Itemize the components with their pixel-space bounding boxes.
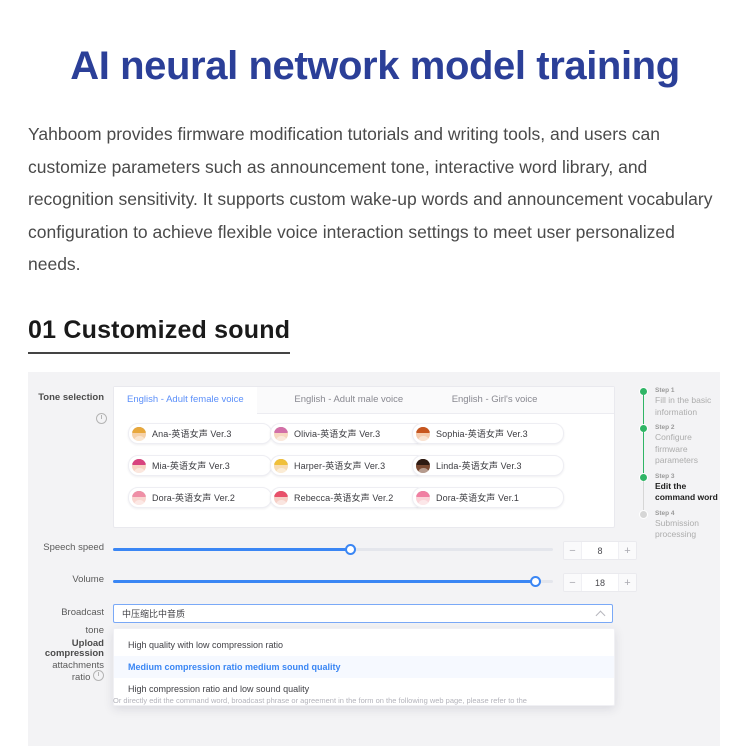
label-compression-line1: compression [32, 648, 104, 660]
chevron-up-icon [596, 610, 606, 620]
voice-chip[interactable]: Dora-英语女声 Ver.2 [128, 487, 272, 508]
step-number: Step 1 [655, 386, 720, 395]
voice-chip-label: Sophia-英语女声 Ver.3 [436, 427, 528, 440]
speech-speed-value[interactable]: 8 [581, 542, 619, 559]
step-item-2[interactable]: Step 2Configure firmware parameters [640, 423, 720, 467]
compression-help-icon[interactable] [93, 670, 104, 681]
voice-chip[interactable]: Harper-英语女声 Ver.3 [270, 455, 426, 476]
label-speech-speed: Speech speed [32, 542, 104, 554]
speech-speed-track[interactable] [113, 548, 553, 551]
step-number: Step 3 [655, 472, 720, 481]
voice-chip[interactable]: Linda-英语女声 Ver.3 [412, 455, 564, 476]
step-dot-icon [640, 425, 647, 432]
voice-chip-label: Mia-英语女声 Ver.3 [152, 459, 230, 472]
page-title: AI neural network model training [0, 42, 750, 90]
avatar [132, 427, 146, 441]
volume-increment[interactable]: + [619, 574, 636, 591]
avatar [416, 459, 430, 473]
speech-speed-decrement[interactable]: − [564, 542, 581, 559]
step-dot-icon [640, 474, 647, 481]
footnote-text: Or directly edit the command word, broad… [113, 695, 633, 706]
voice-chip-label: Linda-英语女声 Ver.3 [436, 459, 522, 472]
step-number: Step 2 [655, 423, 720, 432]
voice-chip-label: Harper-英语女声 Ver.3 [294, 459, 385, 472]
step-number: Step 4 [655, 509, 720, 518]
volume-value[interactable]: 18 [581, 574, 619, 591]
step-text: Submission processing [655, 518, 720, 541]
intro-paragraph: Yahboom provides firmware modification t… [28, 118, 718, 281]
customized-sound-panel: Tone selection Speech speed Volume Broad… [28, 372, 720, 746]
avatar [274, 459, 288, 473]
voice-chip-label: Rebecca-英语女声 Ver.2 [294, 491, 393, 504]
voice-chip[interactable]: Dora-英语女声 Ver.1 [412, 487, 564, 508]
slider-handle[interactable] [345, 544, 356, 555]
voice-tab-2[interactable]: English - Girl's voice [439, 387, 551, 413]
voice-chip-label: Dora-英语女声 Ver.1 [436, 491, 519, 504]
voice-chip[interactable]: Mia-英语女声 Ver.3 [128, 455, 272, 476]
voice-chip[interactable]: Ana-英语女声 Ver.3 [128, 423, 272, 444]
avatar [416, 491, 430, 505]
label-tone-selection: Tone selection [32, 392, 104, 404]
slider-fill [113, 548, 351, 551]
step-dot-icon [640, 511, 647, 518]
label-compression-line2: ratio [32, 670, 104, 684]
voice-tabs: English - Adult female voiceEnglish - Ad… [114, 387, 614, 414]
step-item-1[interactable]: Step 1Fill in the basic information [640, 386, 720, 418]
voice-chip-label: Olivia-英语女声 Ver.3 [294, 427, 380, 440]
broadcast-tone-selected-value: 中压缩比中音质 [122, 607, 597, 620]
avatar [274, 427, 288, 441]
label-broadcast-tone-line2: tone [32, 625, 104, 637]
label-volume: Volume [32, 574, 104, 586]
step-text: Fill in the basic information [655, 395, 720, 418]
step-dot-icon [640, 388, 647, 395]
step-connector [643, 432, 645, 476]
volume-track[interactable] [113, 580, 553, 583]
dropdown-option-1[interactable]: Medium compression ratio medium sound qu… [114, 656, 614, 678]
step-text: Edit the command word [655, 481, 720, 504]
step-item-3[interactable]: Step 3Edit the command word [640, 472, 720, 504]
voice-tab-1[interactable]: English - Adult male voice [281, 387, 416, 413]
volume-stepper[interactable]: − 18 + [563, 573, 637, 592]
voice-chip-label: Ana-英语女声 Ver.3 [152, 427, 231, 440]
label-broadcast-tone-line1: Broadcast [32, 607, 104, 619]
section-heading: 01 Customized sound [28, 313, 290, 354]
voice-chip[interactable]: Sophia-英语女声 Ver.3 [412, 423, 564, 444]
tone-selection-help-icon[interactable] [96, 410, 107, 428]
voice-tab-0[interactable]: English - Adult female voice [114, 387, 257, 414]
step-progress-list: Step 1Fill in the basic informationStep … [640, 386, 720, 546]
voice-chip-label: Dora-英语女声 Ver.2 [152, 491, 235, 504]
avatar [274, 491, 288, 505]
step-text: Configure firmware parameters [655, 432, 720, 467]
dropdown-option-0[interactable]: High quality with low compression ratio [114, 634, 614, 656]
volume-decrement[interactable]: − [564, 574, 581, 591]
avatar [132, 491, 146, 505]
slider-handle[interactable] [530, 576, 541, 587]
step-item-4[interactable]: Step 4Submission processing [640, 509, 720, 541]
speech-speed-stepper[interactable]: − 8 + [563, 541, 637, 560]
avatar [132, 459, 146, 473]
tone-selection-card: English - Adult female voiceEnglish - Ad… [113, 386, 615, 528]
broadcast-tone-select[interactable]: 中压缩比中音质 [113, 604, 613, 623]
voice-chip[interactable]: Olivia-英语女声 Ver.3 [270, 423, 426, 444]
avatar [416, 427, 430, 441]
slider-fill [113, 580, 535, 583]
voice-chip[interactable]: Rebecca-英语女声 Ver.2 [270, 487, 426, 508]
speech-speed-increment[interactable]: + [619, 542, 636, 559]
